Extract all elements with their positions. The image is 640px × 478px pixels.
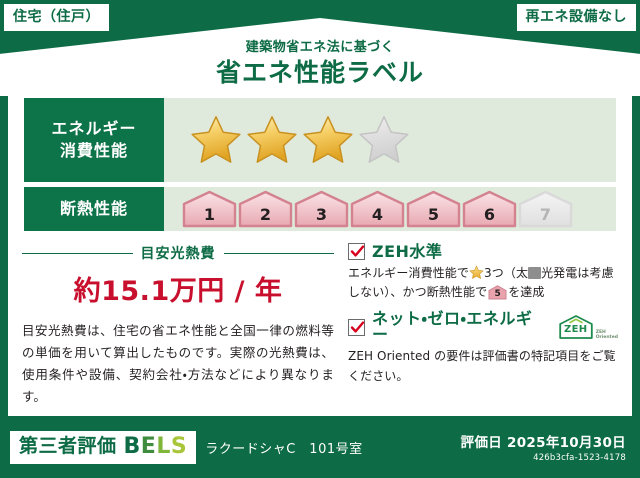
- utility-cost-heading-text: 目安光熱費: [141, 243, 216, 263]
- inline-star-icon: [469, 265, 484, 280]
- insulation-level-5: 5: [406, 190, 461, 228]
- bels-certification-mark: 第三者評価 BELS: [10, 431, 196, 464]
- star-empty-icon: [358, 114, 410, 166]
- energy-performance-label: エネルギー 消費性能: [24, 98, 164, 182]
- utility-cost-note: 目安光熱費は、住宅の省エネ性能と全国一律の燃料等の単価を用いて算出したものです。…: [22, 320, 334, 408]
- zeh-desc-part2: 3つ（太: [484, 266, 528, 280]
- star-rating: [164, 98, 616, 182]
- third-party-evaluation-label: 第三者評価: [19, 437, 117, 456]
- zeh-standard-description: エネルギー消費性能で3つ（太光発電は考慮しない）、かつ断熱性能で5を達成: [348, 264, 618, 302]
- insulation-level-label: 4: [350, 207, 405, 223]
- star-filled-icon: [190, 114, 242, 166]
- insulation-level-4: 4: [350, 190, 405, 228]
- energy-label-line2: 消費性能: [60, 140, 128, 162]
- renewable-equipment-tag: 再エネ設備なし: [517, 4, 637, 31]
- criterion-net-zero-energy: ネット・ゼロ・エネルギー ZEH ZEH O: [348, 311, 618, 385]
- bels-wordmark: BELS: [124, 436, 188, 458]
- unit-name: ラクードシャC 101号室: [205, 438, 362, 457]
- net-zero-energy-description: ZEH Oriented の要件は評価書の特記項目をご覧ください。: [348, 347, 618, 385]
- title-heading: 省エネ性能ラベル: [0, 57, 640, 88]
- insulation-level-label: 7: [518, 207, 573, 223]
- insulation-level-1: 1: [182, 190, 237, 228]
- energy-performance-row: エネルギー 消費性能: [24, 98, 616, 182]
- energy-label-line1: エネルギー: [51, 118, 136, 140]
- evaluation-id: 426b3cfa-1523-4178: [461, 453, 626, 463]
- zeh-desc-part4: を達成: [508, 285, 544, 299]
- star-filled-icon: [246, 114, 298, 166]
- insulation-level-label: 6: [462, 207, 517, 223]
- evaluation-meta: 評価日 2025年10月30日 426b3cfa-1523-4178: [461, 431, 626, 463]
- title-subtitle: 建築物省エネ法に基づく: [0, 40, 640, 56]
- insulation-level-label: 1: [182, 207, 237, 223]
- insulation-performance-label: 断熱性能: [24, 187, 164, 231]
- building-type-tag: 住宅（住戸）: [4, 4, 109, 31]
- inline-house-level-text: 5: [488, 290, 507, 299]
- net-zero-energy-title: ネット・ゼロ・エネルギー: [372, 311, 548, 343]
- utility-cost-value: 約15.1万円 / 年: [22, 269, 334, 308]
- lower-section: 目安光熱費 約15.1万円 / 年 目安光熱費は、住宅の省エネ性能と全国一律の燃…: [22, 243, 618, 408]
- utility-cost-heading: 目安光熱費: [22, 243, 334, 263]
- criterion-zeh-standard: ZEH水準 エネルギー消費性能で3つ（太光発電は考慮しない）、かつ断熱性能で5を…: [348, 243, 618, 302]
- insulation-performance-row: 断熱性能 1234567: [24, 187, 616, 231]
- label-body-card: エネルギー 消費性能 断熱性能 1234567 目安光熱費 約15.1万円 / …: [8, 88, 632, 416]
- net-zero-energy-checkbox[interactable]: [348, 319, 365, 336]
- zeh-standard-checkbox[interactable]: [348, 243, 365, 260]
- zeh-standard-title: ZEH水準: [372, 244, 442, 260]
- inline-house-level-5: 5: [488, 285, 507, 300]
- evaluation-date: 評価日 2025年10月30日: [461, 431, 626, 451]
- insulation-level-2: 2: [238, 190, 293, 228]
- zeh-badge-sub-line2: Oriented: [596, 336, 618, 341]
- zeh-badge-text: ZEH: [558, 325, 594, 335]
- insulation-level-label: 5: [406, 207, 461, 223]
- redacted-character: [528, 267, 541, 279]
- zeh-desc-part1: エネルギー消費性能で: [348, 266, 469, 280]
- insulation-level-label: 3: [294, 207, 349, 223]
- label-title: 建築物省エネ法に基づく 省エネ性能ラベル: [0, 40, 640, 88]
- star-filled-icon: [302, 114, 354, 166]
- label-footer: 第三者評価 BELS ラクードシャC 101号室 評価日 2025年10月30日…: [0, 416, 640, 478]
- insulation-level-6: 6: [462, 190, 517, 228]
- rule-left: [22, 253, 133, 254]
- utility-cost-column: 目安光熱費 約15.1万円 / 年 目安光熱費は、住宅の省エネ性能と全国一律の燃…: [22, 243, 342, 408]
- insulation-level-7: 7: [518, 190, 573, 228]
- rule-right: [224, 253, 335, 254]
- insulation-level-label: 2: [238, 207, 293, 223]
- criteria-column: ZEH水準 エネルギー消費性能で3つ（太光発電は考慮しない）、かつ断熱性能で5を…: [342, 243, 618, 408]
- insulation-level-scale: 1234567: [182, 190, 574, 228]
- zeh-logo-badge: ZEH ZEH Oriented: [558, 314, 618, 340]
- insulation-level-3: 3: [294, 190, 349, 228]
- energy-label-root: 住宅（住戸） 再エネ設備なし 建築物省エネ法に基づく 省エネ性能ラベル エネルギ…: [0, 0, 640, 478]
